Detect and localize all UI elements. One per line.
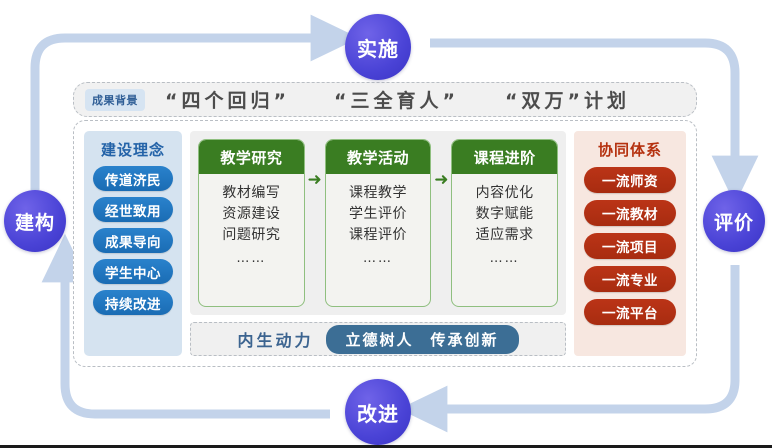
process-column-1-title: 教学研究 (199, 140, 304, 174)
process-item: 问题研究 (222, 225, 280, 246)
process-item: 学生评价 (349, 204, 407, 225)
concept-pill-5[interactable]: 持续改进 (93, 290, 173, 315)
process-arrow-icon-2: ➜ (431, 139, 451, 307)
process-item: …… (490, 246, 520, 269)
cycle-node-implement[interactable]: 实施 (345, 14, 411, 80)
cycle-node-evaluate[interactable]: 评价 (703, 190, 765, 252)
synergy-pill-1[interactable]: 一流师资 (584, 167, 676, 193)
slogan-2: “三全育人” (334, 86, 459, 113)
concept-pill-2[interactable]: 经世致用 (93, 197, 173, 222)
process-item: …… (236, 246, 266, 269)
process-column-1[interactable]: 教学研究 教材编写 资源建设 问题研究 …… (198, 139, 305, 307)
concept-pill-1[interactable]: 传道济民 (93, 166, 173, 191)
process-column-2[interactable]: 教学活动 课程教学 学生评价 课程评价 …… (325, 139, 432, 307)
process-item: …… (363, 246, 393, 269)
synergy-panel: 协同体系 一流师资 一流教材 一流项目 一流专业 一流平台 (574, 131, 686, 356)
process-column-2-items: 课程教学 学生评价 课程评价 …… (326, 174, 431, 306)
concept-pill-4[interactable]: 学生中心 (93, 259, 173, 284)
process-flow: 教学研究 教材编写 资源建设 问题研究 …… ➜ 教学活动 课程教学 学生评价 … (190, 131, 566, 315)
synergy-title: 协同体系 (598, 139, 662, 160)
motivation-bar: 内生动力 立德树人 传承创新 (190, 322, 566, 356)
concept-panel: 建设理念 传道济民 经世致用 成果导向 学生中心 持续改进 (84, 131, 182, 356)
synergy-pill-3[interactable]: 一流项目 (584, 233, 676, 259)
synergy-pill-4[interactable]: 一流专业 (584, 266, 676, 292)
cycle-node-build[interactable]: 建构 (4, 190, 66, 252)
process-column-3-title: 课程进阶 (452, 140, 557, 174)
process-column-2-title: 教学活动 (326, 140, 431, 174)
process-item: 内容优化 (476, 183, 534, 204)
process-column-3[interactable]: 课程进阶 内容优化 数字赋能 适应需求 …… (451, 139, 558, 307)
process-arrow-icon-1: ➜ (305, 139, 325, 307)
process-item: 课程评价 (349, 225, 407, 246)
process-item: 适应需求 (476, 225, 534, 246)
slogan-1: “四个回归” (165, 86, 290, 113)
background-badge: 成果背景 (85, 89, 145, 111)
concept-title: 建设理念 (101, 139, 165, 160)
synergy-pill-5[interactable]: 一流平台 (584, 299, 676, 325)
concept-pill-3[interactable]: 成果导向 (93, 228, 173, 253)
process-item: 数字赋能 (476, 204, 534, 225)
motivation-label: 内生动力 (237, 327, 313, 351)
center-region: 教学研究 教材编写 资源建设 问题研究 …… ➜ 教学活动 课程教学 学生评价 … (190, 131, 566, 356)
process-item: 课程教学 (349, 183, 407, 204)
process-item: 教材编写 (222, 183, 280, 204)
synergy-pill-2[interactable]: 一流教材 (584, 200, 676, 226)
main-body: 建设理念 传道济民 经世致用 成果导向 学生中心 持续改进 教学研究 教材编写 … (73, 120, 697, 367)
process-item: 资源建设 (222, 204, 280, 225)
process-column-1-items: 教材编写 资源建设 问题研究 …… (199, 174, 304, 306)
diagram-canvas: 成果背景 “四个回归” “三全育人” “双万”计划 建设理念 传道济民 经世致用… (0, 0, 772, 448)
slogan-3: “双万”计划 (505, 86, 630, 113)
process-column-3-items: 内容优化 数字赋能 适应需求 …… (452, 174, 557, 306)
cycle-node-improve[interactable]: 改进 (345, 379, 411, 445)
motivation-pill[interactable]: 立德树人 传承创新 (326, 325, 519, 354)
background-banner: 成果背景 “四个回归” “三全育人” “双万”计划 (73, 82, 697, 117)
